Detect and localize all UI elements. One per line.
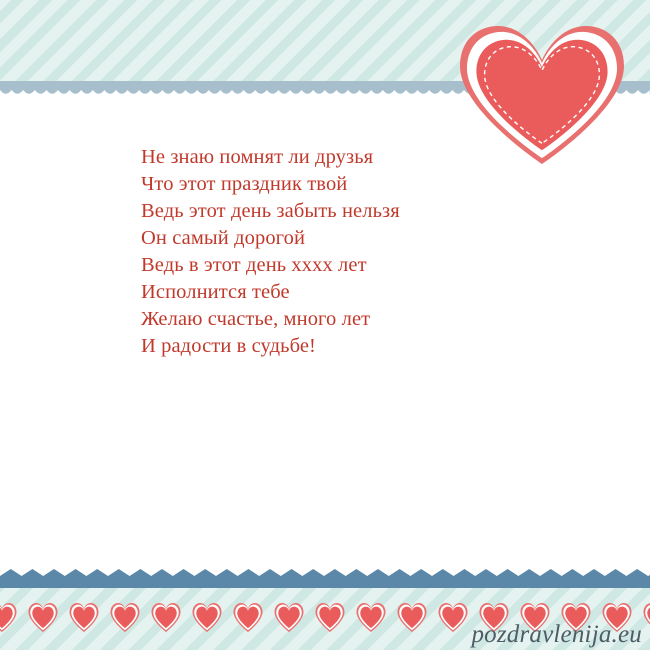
bottom-steel-blue-band (0, 578, 650, 588)
watermark-text: pozdravlenija.eu (471, 621, 642, 649)
poem-line: Ведь в этот день хххх лет (141, 252, 571, 279)
poem-line: Что этот праздник твой (141, 171, 571, 198)
poem-line: И радости в судьбе! (141, 333, 571, 360)
poem-text-block: Не знаю помнят ли друзья Что этот праздн… (141, 144, 571, 360)
greeting-card: Не знаю помнят ли друзья Что этот праздн… (0, 0, 650, 650)
poem-line: Ведь этот день забыть нельзя (141, 198, 571, 225)
big-stitched-heart-icon (452, 18, 632, 168)
poem-line: Желаю счастье, много лет (141, 306, 571, 333)
poem-line: Он самый дорогой (141, 225, 571, 252)
poem-line: Исполнится тебе (141, 279, 571, 306)
